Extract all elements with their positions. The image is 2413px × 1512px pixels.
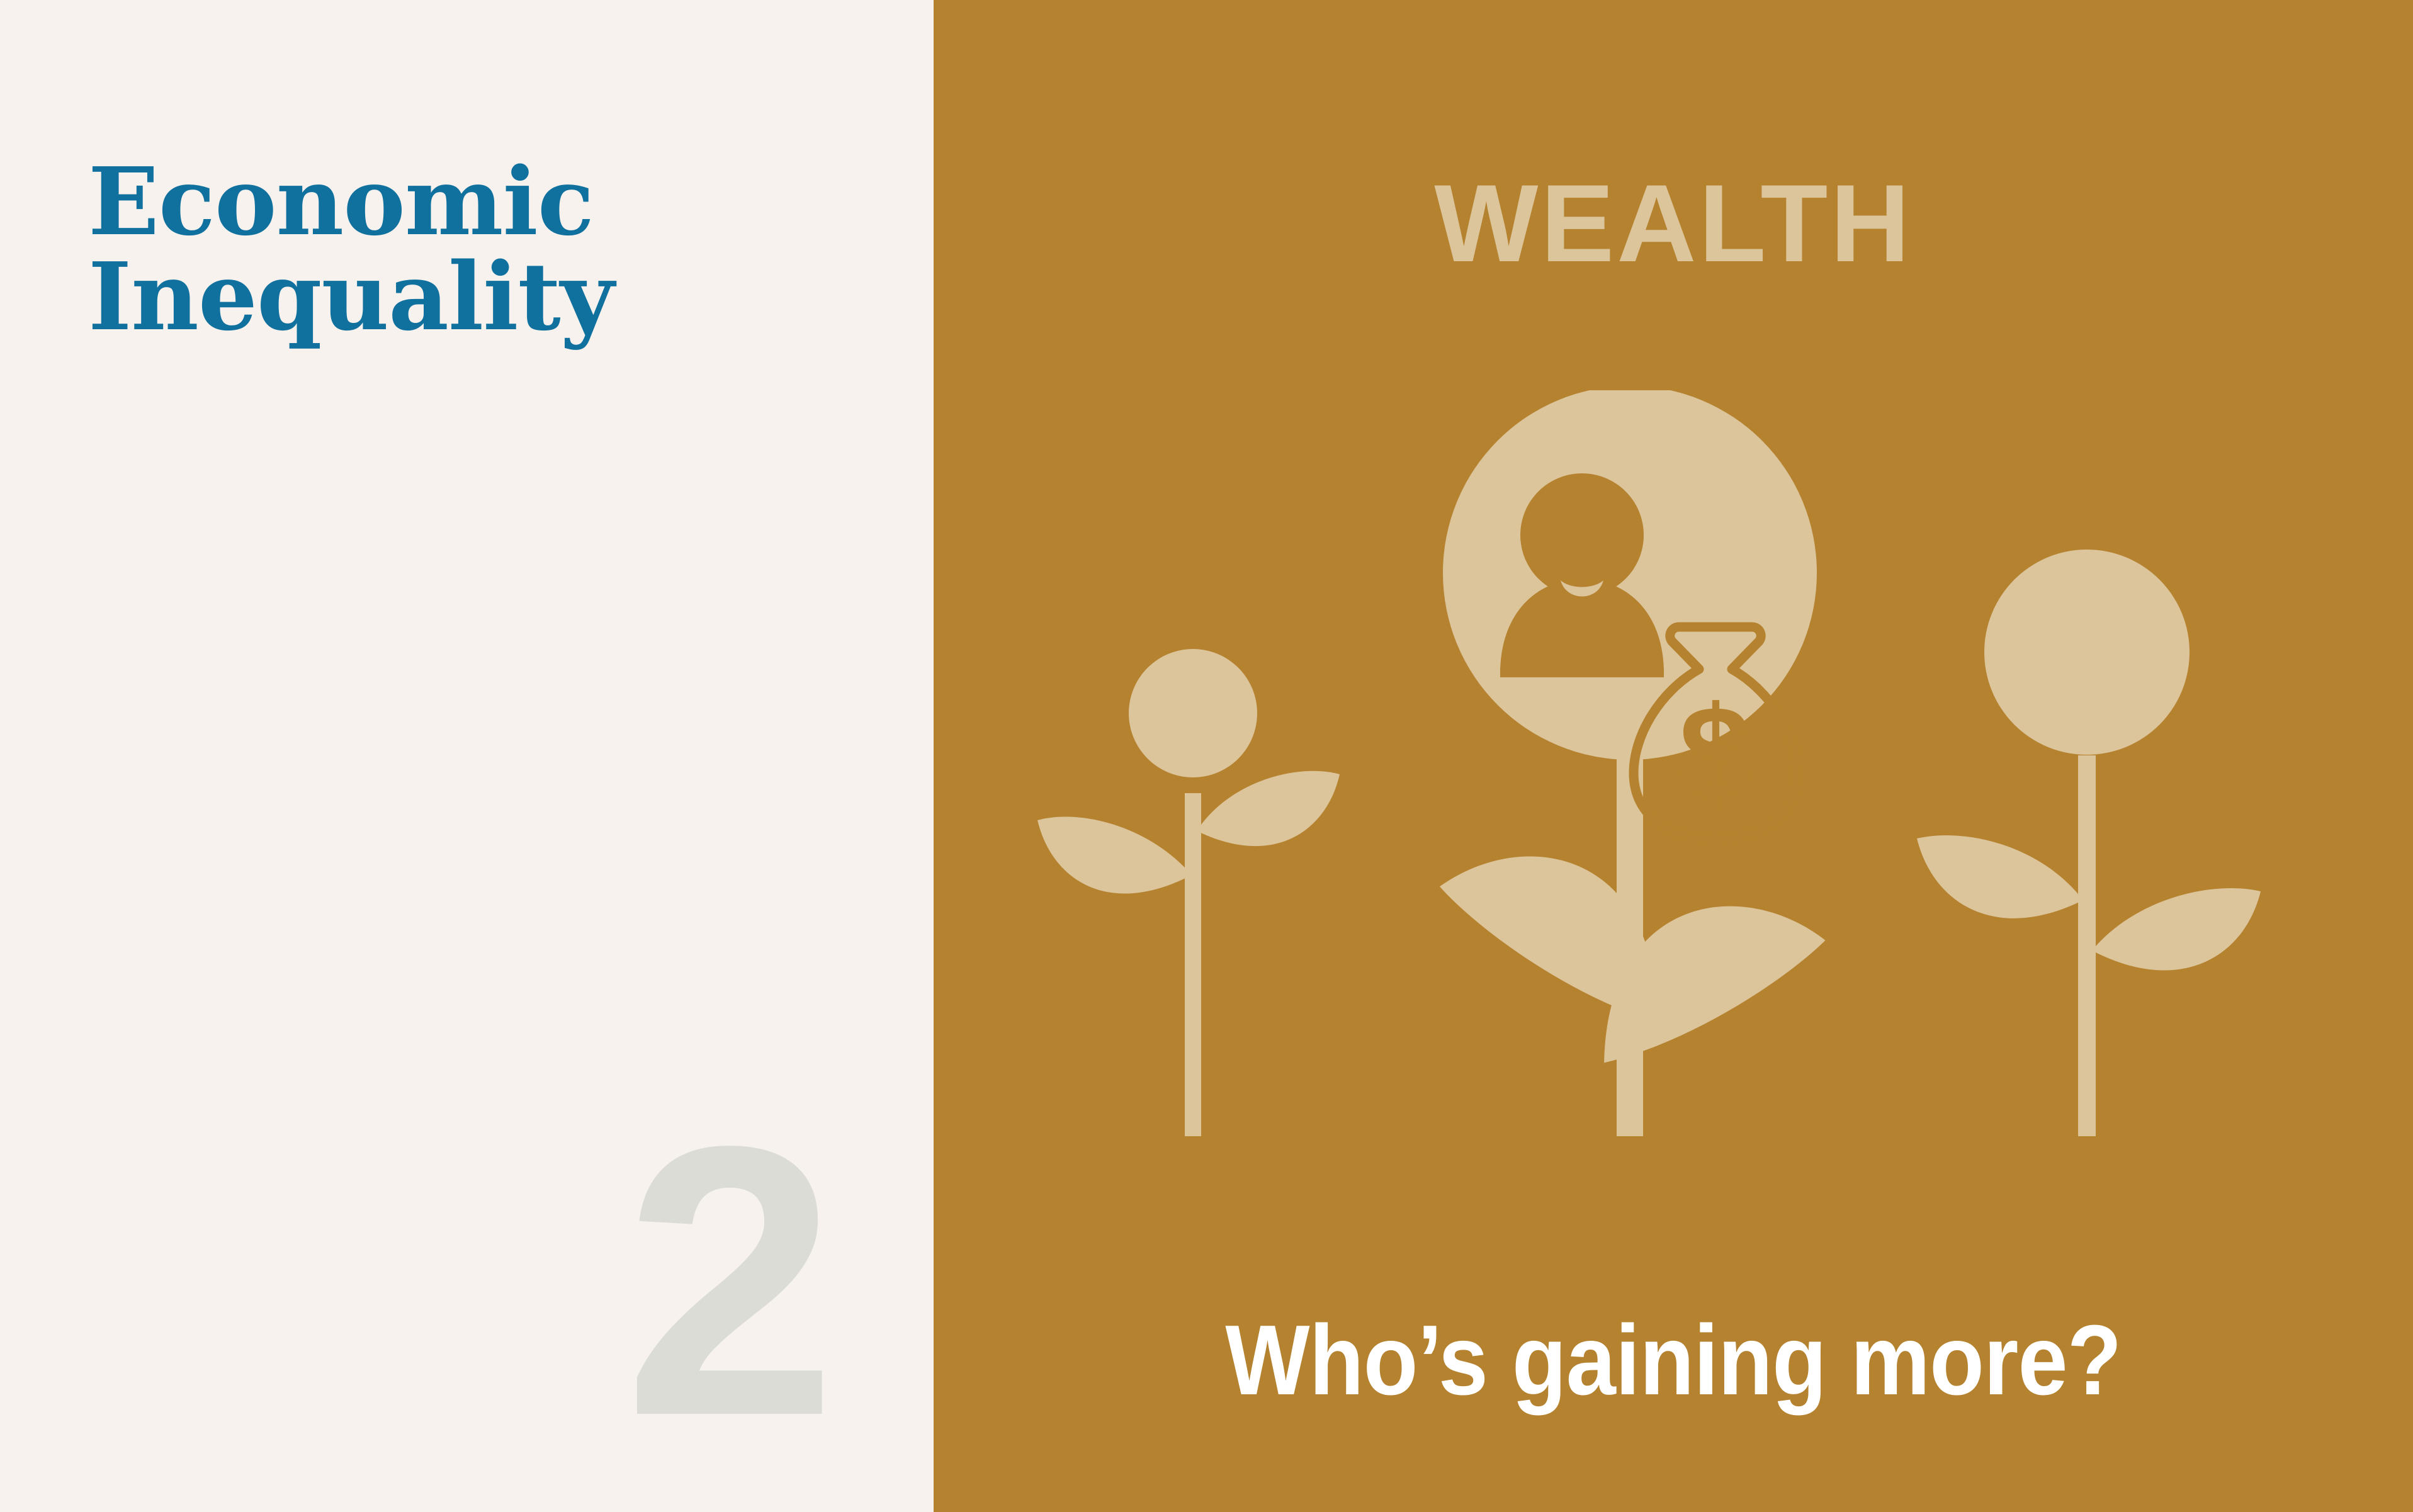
right-panel: WEALTH	[934, 0, 2413, 1512]
flower-small-left	[1037, 649, 1340, 1136]
section-number: 2	[624, 1132, 837, 1431]
flower-head	[1984, 550, 2190, 755]
category-label: WEALTH	[934, 169, 2413, 279]
question-headline: Who’s gaining more?	[1008, 1311, 2339, 1410]
flower-medium-right	[1917, 550, 2261, 1136]
flower-stem	[1185, 793, 1201, 1136]
page-title: Economic Inequality	[88, 154, 812, 344]
illustration-three-flowers: $	[934, 390, 2413, 1177]
leaf-upper-right	[1197, 771, 1340, 846]
left-panel: Economic Inequality 2	[0, 0, 934, 1512]
money-bag-dollar-sign: $	[1679, 679, 1753, 827]
person-base	[1500, 667, 1664, 677]
flower-head	[1129, 649, 1257, 777]
leaf-lower-left	[1037, 816, 1192, 893]
flower-large-center-icon: $	[1438, 390, 1828, 1136]
slide-root: Economic Inequality 2 WEALTH	[0, 0, 2413, 1512]
person-head	[1520, 473, 1644, 597]
leaf-lower-right	[2092, 888, 2261, 971]
flower-stem	[2078, 755, 2096, 1136]
icon-circle-background	[1443, 390, 1817, 760]
leaf-upper-left	[1917, 835, 2083, 918]
person-with-money-bag-icon: $	[1443, 390, 1817, 838]
